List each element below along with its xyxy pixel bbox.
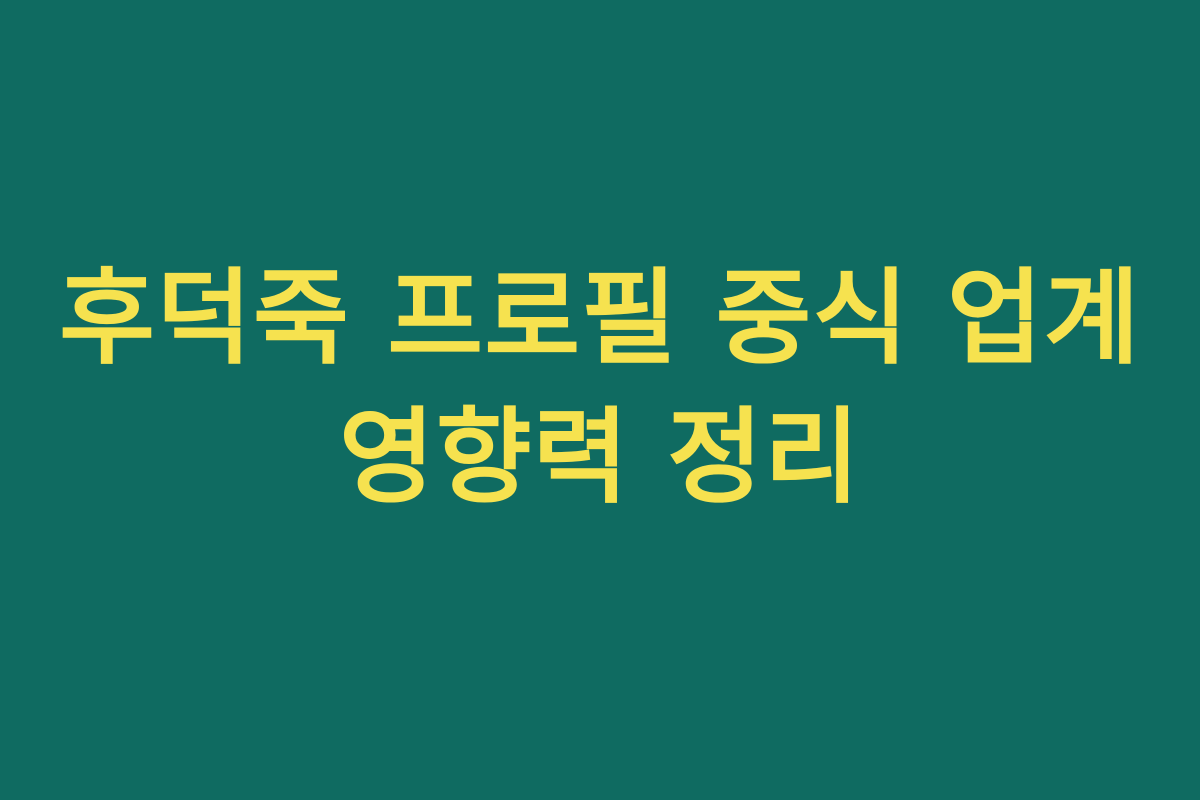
title-line-1: 후덕죽 프로필 중식 업계 [0,249,1200,388]
title-card: 후덕죽 프로필 중식 업계 영향력 정리 [0,0,1200,800]
title-block: 후덕죽 프로필 중식 업계 영향력 정리 [0,249,1200,528]
title-line-2: 영향력 정리 [0,388,1200,527]
